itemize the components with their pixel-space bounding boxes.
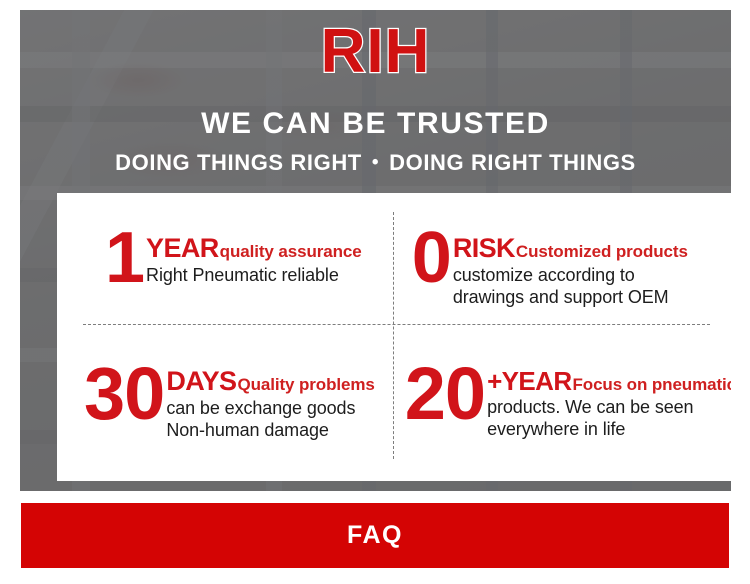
feature-2-unit: RISK [453, 233, 515, 263]
brand-logo-text: RIH [20, 21, 731, 83]
feature-1-body: YEARquality assurance Right Pneumatic re… [146, 235, 362, 286]
feature-1-highlight: quality assurance [220, 242, 362, 261]
feature-1-line-1: Right Pneumatic reliable [146, 264, 362, 287]
feature-4-unit: +YEAR [487, 366, 571, 396]
feature-item-2: 0 RISKCustomized products customize acco… [385, 193, 731, 337]
feature-card: 1 YEARquality assurance Right Pneumatic … [57, 193, 731, 481]
faq-section-button[interactable]: FAQ [21, 503, 729, 568]
feature-1-headline: YEARquality assurance [146, 235, 362, 263]
feature-2-line-2: drawings and support OEM [453, 286, 688, 309]
feature-item-1: 1 YEARquality assurance Right Pneumatic … [57, 193, 385, 337]
divider-vertical [393, 212, 394, 459]
feature-4-line-2: everywhere in life [487, 418, 731, 441]
tagline-primary: WE CAN BE TRUSTED [20, 109, 731, 139]
feature-4-highlight: Focus on pneumatic [573, 375, 732, 394]
tagline-secondary-right: DOING RIGHT THINGS [389, 150, 636, 175]
feature-3-number: 30 [84, 360, 164, 428]
feature-2-headline: RISKCustomized products [453, 235, 688, 263]
feature-4-number: 20 [405, 360, 485, 428]
feature-1-number: 1 [105, 225, 144, 291]
feature-2-body: RISKCustomized products customize accord… [453, 235, 688, 309]
feature-item-3: 30 DAYSQuality problems can be exchange … [57, 337, 385, 481]
feature-3-line-2: Non-human damage [166, 419, 374, 442]
bullet-separator-icon: • [362, 153, 389, 172]
feature-2-line-1: customize according to [453, 264, 688, 287]
feature-3-headline: DAYSQuality problems [166, 368, 374, 396]
feature-grid: 1 YEARquality assurance Right Pneumatic … [57, 193, 731, 481]
divider-horizontal [83, 324, 710, 325]
feature-4-body: +YEARFocus on pneumatic products. We can… [487, 368, 731, 441]
feature-2-highlight: Customized products [516, 242, 688, 261]
feature-3-highlight: Quality problems [237, 375, 374, 394]
page-root: RIH WE CAN BE TRUSTED DOING THINGS RIGHT… [0, 0, 750, 584]
feature-1-unit: YEAR [146, 233, 219, 263]
feature-2-number: 0 [412, 225, 451, 291]
feature-4-line-1: products. We can be seen [487, 396, 731, 419]
tagline-secondary: DOING THINGS RIGHT•DOING RIGHT THINGS [20, 152, 731, 174]
feature-item-4: 20 +YEARFocus on pneumatic products. We … [385, 337, 731, 481]
feature-3-line-1: can be exchange goods [166, 397, 374, 420]
hero-banner: RIH WE CAN BE TRUSTED DOING THINGS RIGHT… [20, 10, 731, 491]
tagline-secondary-left: DOING THINGS RIGHT [115, 150, 362, 175]
faq-label: FAQ [347, 521, 403, 550]
feature-4-headline: +YEARFocus on pneumatic [487, 368, 731, 395]
feature-3-body: DAYSQuality problems can be exchange goo… [166, 368, 374, 442]
feature-3-unit: DAYS [166, 366, 236, 396]
